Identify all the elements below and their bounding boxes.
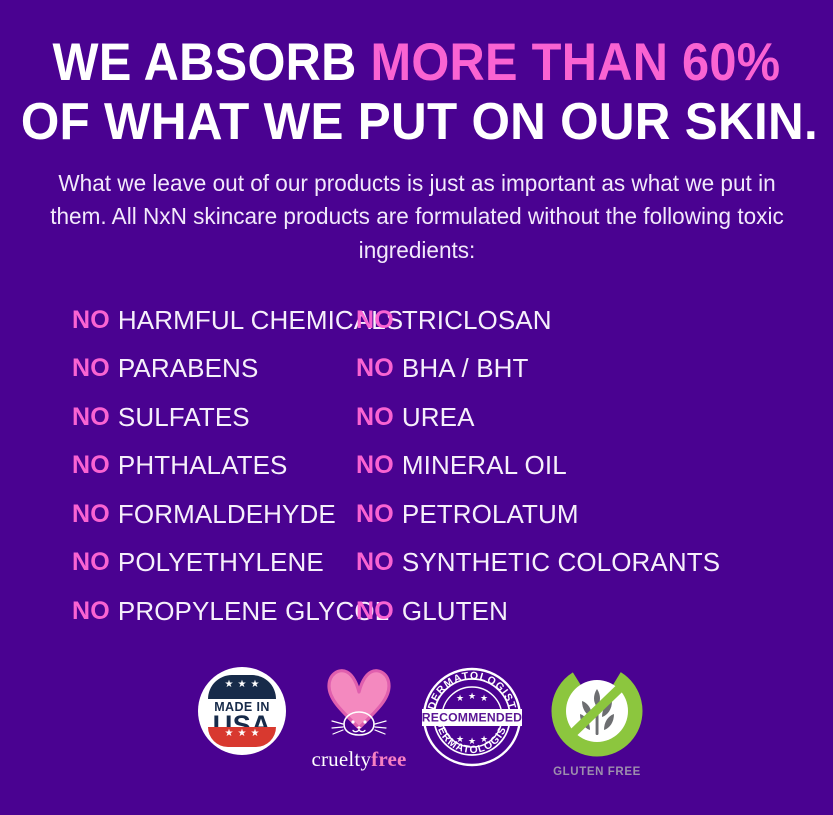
no-item-label: SYNTHETIC COLORANTS	[402, 547, 720, 578]
trust-badge-row: ★ ★ ★ MADE IN USA ★ ★ ★	[0, 662, 833, 782]
star-icon: ★	[238, 729, 247, 739]
gluten-free-badge: GLUTEN FREE	[551, 665, 643, 778]
no-tag: NO	[72, 548, 110, 577]
no-tag: NO	[72, 597, 110, 626]
svg-text:★: ★	[468, 736, 476, 746]
svg-text:★: ★	[480, 734, 488, 744]
svg-text:★: ★	[468, 691, 476, 701]
no-list-left-column: NO HARMFUL CHEMICALS NO PARABENS NO SULF…	[0, 296, 356, 636]
list-item: NO PETROLATUM	[356, 490, 756, 539]
no-tag: NO	[356, 306, 394, 335]
no-item-label: SULFATES	[118, 402, 250, 433]
headline-line-2: OF WHAT WE PUT ON OUR SKIN.	[21, 96, 812, 150]
headline: WE ABSORB MORE THAN 60% OF WHAT WE PUT O…	[0, 0, 833, 149]
list-item: NO FORMALDEHYDE	[72, 490, 356, 539]
cruelty-free-bunny-heart-icon	[303, 662, 415, 740]
usa-navy-arc: ★ ★ ★	[208, 675, 276, 699]
no-ingredients-list: NO HARMFUL CHEMICALS NO PARABENS NO SULF…	[0, 296, 833, 636]
list-item: NO POLYETHYLENE	[72, 539, 356, 588]
made-in-usa-icon: ★ ★ ★ MADE IN USA ★ ★ ★	[198, 667, 286, 755]
svg-text:★: ★	[456, 693, 464, 703]
headline-line-1: WE ABSORB MORE THAN 60%	[33, 36, 799, 91]
free-word: free	[371, 747, 406, 771]
headline-plain: WE ABSORB	[53, 33, 371, 92]
no-tag: NO	[356, 548, 394, 577]
no-item-label: PHTHALATES	[118, 450, 288, 481]
cruelty-free-badge: crueltyfree	[303, 662, 415, 772]
no-item-label: BHA / BHT	[402, 353, 529, 384]
dermatologist-recommended-badge: DERMATOLOGIST DERMATOLOGIST ★★★ ★★★ RECO…	[420, 665, 524, 774]
list-item: NO PHTHALATES	[72, 442, 356, 491]
no-item-label: TRICLOSAN	[402, 305, 552, 336]
no-tag: NO	[72, 500, 110, 529]
headline-accent: MORE THAN 60%	[370, 33, 780, 92]
gluten-free-icon	[551, 665, 643, 757]
no-list-right-column: NO TRICLOSAN NO BHA / BHT NO UREA NO MIN…	[356, 296, 756, 636]
no-tag: NO	[356, 597, 394, 626]
star-icon: ★	[225, 729, 234, 739]
star-icon: ★	[238, 680, 247, 690]
svg-text:RECOMMENDED: RECOMMENDED	[422, 711, 522, 725]
list-item: NO PARABENS	[72, 345, 356, 394]
list-item: NO HARMFUL CHEMICALS	[72, 296, 356, 345]
made-in-usa-badge: ★ ★ ★ MADE IN USA ★ ★ ★	[198, 667, 286, 755]
dermatologist-stamp-icon: DERMATOLOGIST DERMATOLOGIST ★★★ ★★★ RECO…	[420, 665, 524, 769]
no-item-label: POLYETHYLENE	[118, 547, 324, 578]
no-tag: NO	[356, 451, 394, 480]
list-item: NO SULFATES	[72, 393, 356, 442]
no-tag: NO	[72, 354, 110, 383]
no-item-label: GLUTEN	[402, 596, 508, 627]
cruelty-word: cruelty	[311, 747, 371, 771]
star-icon: ★	[250, 729, 259, 739]
star-icon: ★	[250, 680, 259, 690]
star-icon: ★	[225, 680, 234, 690]
gluten-free-label: GLUTEN FREE	[551, 766, 643, 778]
list-item: NO GLUTEN	[356, 587, 756, 636]
no-tag: NO	[356, 403, 394, 432]
usa-red-arc: ★ ★ ★	[208, 727, 276, 747]
no-item-label: PARABENS	[118, 353, 258, 384]
list-item: NO SYNTHETIC COLORANTS	[356, 539, 756, 588]
subcopy-paragraph: What we leave out of our products is jus…	[33, 167, 801, 267]
list-item: NO PROPYLENE GLYCOL	[72, 587, 356, 636]
no-item-label: PROPYLENE GLYCOL	[118, 596, 389, 627]
no-tag: NO	[72, 306, 110, 335]
list-item: NO UREA	[356, 393, 756, 442]
no-tag: NO	[72, 451, 110, 480]
no-tag: NO	[356, 500, 394, 529]
no-item-label: FORMALDEHYDE	[118, 499, 336, 530]
no-item-label: MINERAL OIL	[402, 450, 567, 481]
list-item: NO TRICLOSAN	[356, 296, 756, 345]
cruelty-free-label: crueltyfree	[303, 747, 415, 772]
svg-text:★: ★	[456, 734, 464, 744]
no-tag: NO	[356, 354, 394, 383]
svg-text:★: ★	[480, 693, 488, 703]
no-tag: NO	[72, 403, 110, 432]
poster-canvas: WE ABSORB MORE THAN 60% OF WHAT WE PUT O…	[0, 0, 833, 815]
no-item-label: UREA	[402, 402, 475, 433]
list-item: NO MINERAL OIL	[356, 442, 756, 491]
no-item-label: PETROLATUM	[402, 499, 579, 530]
list-item: NO BHA / BHT	[356, 345, 756, 394]
